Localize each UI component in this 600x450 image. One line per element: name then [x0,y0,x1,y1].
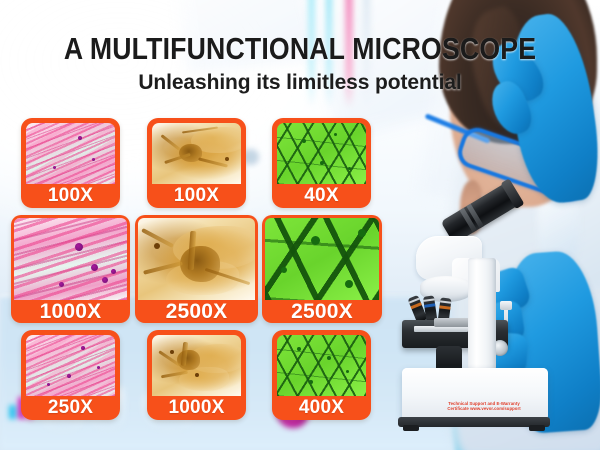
microscope-eyepiece-tube [441,182,521,244]
magnification-card[interactable]: 2500X [135,215,258,323]
magnification-label: 2500X [265,300,379,323]
magnification-label: 400X [277,396,366,420]
sample-image-muscle-tissue [26,335,115,396]
magnification-card[interactable]: 100X [21,118,120,208]
microscope-base: Technical Support and E-Warranty Certifi… [402,368,548,420]
magnification-label: 100X [152,184,241,208]
sample-image-insect [138,218,255,300]
magnification-label: 2500X [138,300,255,323]
sample-image-muscle-tissue [26,123,115,184]
page-title: A MULTIFUNCTIONAL MICROSCOPE [42,32,558,66]
magnification-card[interactable]: 1000X [147,330,246,420]
microscope-rod-cap [500,301,512,310]
marketing-image-canvas: Technical Support and E-Warranty Certifi… [0,0,600,450]
microscope-base-foot [398,417,550,427]
microscope-stage-clip [434,318,470,327]
magnification-card[interactable]: 1000X [11,215,130,323]
magnification-card[interactable]: 40X [272,118,371,208]
page-subtitle: Unleashing its limitless potential [0,70,600,96]
sample-image-insect [152,123,241,184]
magnification-label: 1000X [14,300,127,323]
magnification-label: 40X [277,184,366,208]
magnification-label: 250X [26,396,115,420]
magnification-label: 100X [26,184,115,208]
microscope-product-image: Technical Support and E-Warranty Certifi… [392,150,572,420]
sample-image-plant-cells [265,218,379,300]
sample-image-muscle-tissue [14,218,127,300]
magnification-card[interactable]: 400X [272,330,371,420]
support-warranty-text: Technical Support and E-Warranty Certifi… [416,401,552,412]
magnification-label: 1000X [152,396,241,420]
sample-image-insect [152,335,241,396]
magnification-card[interactable]: 250X [21,330,120,420]
magnification-card[interactable]: 2500X [262,215,382,323]
sample-image-plant-cells [277,123,366,184]
microscope-pillar [468,258,496,370]
magnification-card[interactable]: 100X [147,118,246,208]
sample-image-plant-cells [277,335,366,396]
